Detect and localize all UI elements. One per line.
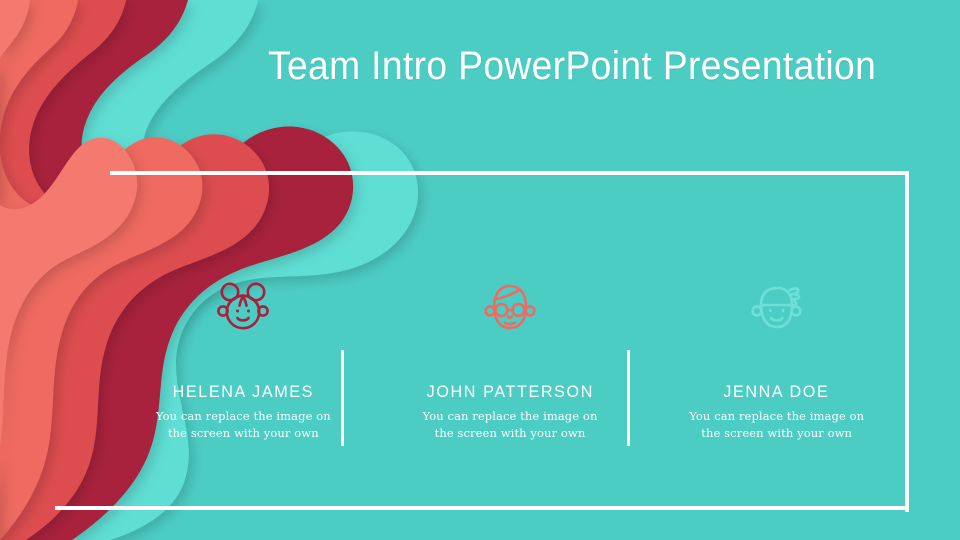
- team-member-description-3: You can replace the image on the screen …: [643, 408, 910, 442]
- frame-bottom-border: [55, 506, 909, 510]
- slide-canvas: Team Intro PowerPoint Presentation: [0, 0, 960, 540]
- description-line-2: the screen with your own: [377, 425, 644, 442]
- description-line-1: You can replace the image on: [377, 408, 644, 425]
- team-member-name-1: Helena James: [117, 382, 370, 402]
- team-member-name-2: John Patterson: [383, 382, 636, 402]
- page-title: Team Intro PowerPoint Presentation: [268, 42, 876, 90]
- team-members-row: Helena James You can replace the image o…: [110, 270, 910, 455]
- team-member-card-2[interactable]: John Patterson You can replace the image…: [377, 270, 644, 455]
- woman-with-headscarf-face-icon: [746, 278, 808, 340]
- frame-top-border: [110, 171, 909, 175]
- description-line-1: You can replace the image on: [110, 408, 377, 425]
- description-line-1: You can replace the image on: [643, 408, 910, 425]
- team-member-card-3[interactable]: Jenna Doe You can replace the image on t…: [643, 270, 910, 455]
- team-member-description-1: You can replace the image on the screen …: [110, 408, 377, 442]
- team-member-card-1[interactable]: Helena James You can replace the image o…: [110, 270, 377, 455]
- description-line-2: the screen with your own: [643, 425, 910, 442]
- team-member-description-2: You can replace the image on the screen …: [377, 408, 644, 442]
- man-with-glasses-face-icon: [479, 278, 541, 340]
- girl-face-icon: [212, 278, 274, 340]
- description-line-2: the screen with your own: [110, 425, 377, 442]
- team-member-name-3: Jenna Doe: [650, 382, 903, 402]
